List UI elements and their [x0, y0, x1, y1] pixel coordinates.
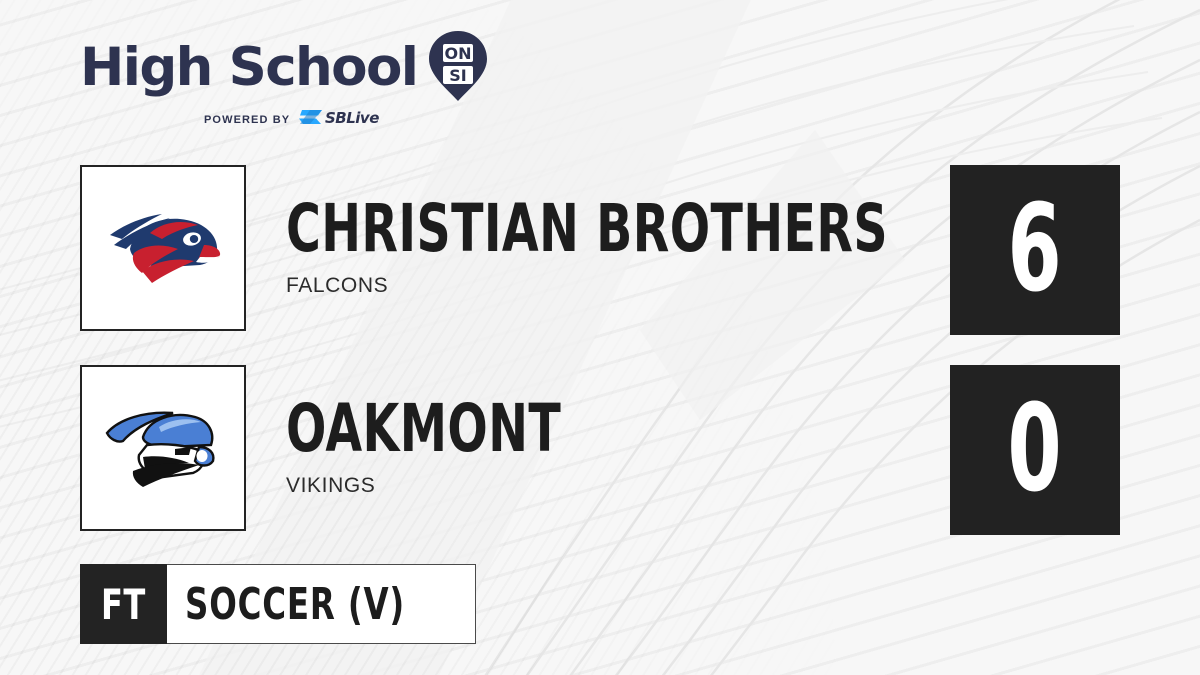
team-mascot: FALCONS: [286, 274, 926, 298]
on-si-pin-icon: ON SI: [428, 30, 488, 107]
powered-by-label: POWERED BY: [204, 114, 290, 126]
team-name: OAKMONT: [286, 398, 798, 461]
powered-by-row: POWERED BY SBLive: [80, 107, 510, 132]
sport-label: SOCCER (V): [185, 579, 405, 630]
game-status-bar: FT SOCCER (V): [80, 564, 476, 644]
sport-label-panel: SOCCER (V): [167, 564, 476, 644]
team-mascot: VIKINGS: [286, 474, 926, 498]
viking-head-logo-icon: [103, 403, 223, 494]
team-score-box: 0: [950, 365, 1120, 535]
game-status-code-badge: FT: [80, 564, 167, 644]
falcon-head-logo-icon: [104, 205, 222, 292]
team-text-block: OAKMONT VIKINGS: [286, 365, 926, 531]
team-score-value: 6: [1008, 190, 1062, 310]
brand-logo-row: High School ON SI: [80, 36, 510, 98]
game-status-code: FT: [101, 580, 146, 629]
team-score-box: 6: [950, 165, 1120, 335]
brand-header: High School ON SI POWERED BY SBLive: [80, 36, 510, 132]
on-si-badge-line1: ON: [445, 44, 472, 63]
team-name: CHRISTIAN BROTHERS: [286, 198, 798, 261]
team-logo-box: [80, 165, 246, 331]
sblive-logo-icon: SBLive: [298, 107, 396, 132]
team-score-value: 0: [1008, 390, 1062, 510]
sblive-wordmark: SBLive: [325, 109, 379, 127]
scoreboard-graphic: High School ON SI POWERED BY SBLive: [0, 0, 1200, 675]
high-school-wordmark: High School: [80, 41, 417, 94]
team-logo-box: [80, 365, 246, 531]
on-si-badge-line2: SI: [450, 66, 467, 85]
team-text-block: CHRISTIAN BROTHERS FALCONS: [286, 165, 926, 331]
